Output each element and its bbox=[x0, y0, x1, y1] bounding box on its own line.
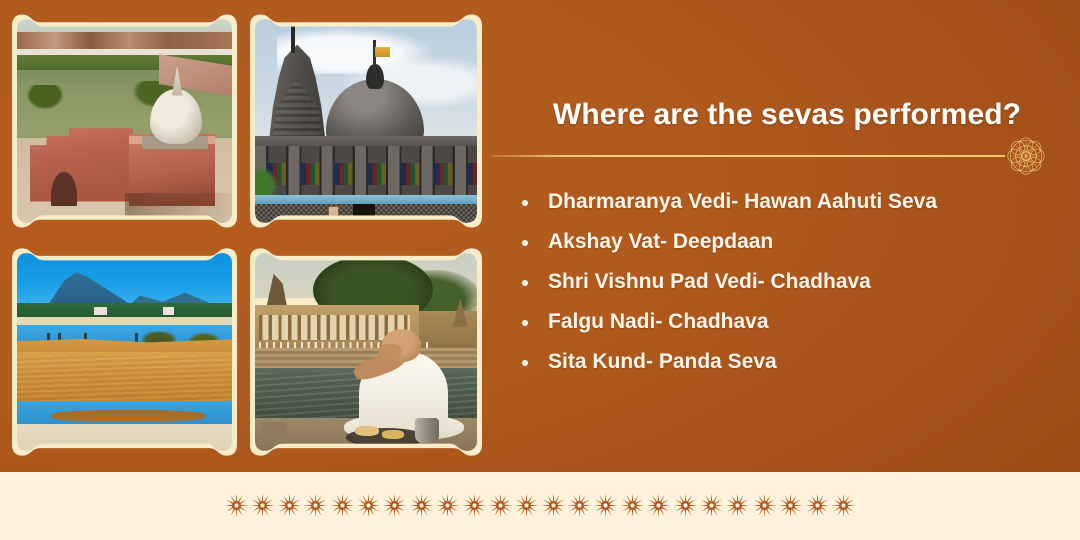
gold-divider-line bbox=[492, 155, 1005, 157]
mandala-rosette-icon bbox=[1000, 130, 1052, 182]
list-item: Akshay Vat- Deepdaan bbox=[514, 222, 1074, 262]
flower-star-icon bbox=[250, 493, 275, 518]
flower-star-icon bbox=[805, 493, 830, 518]
photo-frame-panda-seva bbox=[250, 244, 482, 460]
flower-star-icon bbox=[831, 493, 856, 518]
flower-star-icon bbox=[514, 493, 539, 518]
flower-star-icon bbox=[488, 493, 513, 518]
flower-star-icon bbox=[646, 493, 671, 518]
flower-star-icon bbox=[620, 493, 645, 518]
flower-star-icon bbox=[382, 493, 407, 518]
list-item: Dharmaranya Vedi- Hawan Aahuti Seva bbox=[514, 182, 1074, 222]
photo-frame-sita-kund bbox=[12, 10, 237, 232]
flower-star-icon bbox=[435, 493, 460, 518]
photo-sita-kund bbox=[17, 15, 232, 227]
flower-star-icon bbox=[699, 493, 724, 518]
photo-falgu-river-art bbox=[17, 249, 232, 455]
flower-star-icon bbox=[673, 493, 698, 518]
photo-frame-falgu-river bbox=[12, 244, 237, 460]
flower-star-icon bbox=[541, 493, 566, 518]
page-title: Where are the sevas performed? bbox=[522, 98, 1052, 132]
list-item: Falgu Nadi- Chadhava bbox=[514, 302, 1074, 342]
photo-frame-vishnupad-temple bbox=[250, 10, 482, 232]
flower-star-icon bbox=[567, 493, 592, 518]
photo-vishnupad-temple-art bbox=[255, 15, 477, 227]
flower-star-icon bbox=[330, 493, 355, 518]
flower-border bbox=[224, 488, 856, 522]
flower-star-icon bbox=[409, 493, 434, 518]
bottom-decorative-band bbox=[0, 472, 1080, 540]
flower-star-icon bbox=[224, 493, 249, 518]
flower-star-icon bbox=[593, 493, 618, 518]
slide-canvas: Where are the sevas performed? Dharmaran… bbox=[0, 0, 1080, 540]
flower-star-icon bbox=[752, 493, 777, 518]
list-item: Sita Kund- Panda Seva bbox=[514, 342, 1074, 382]
photo-falgu-river bbox=[17, 249, 232, 455]
flower-star-icon bbox=[356, 493, 381, 518]
photo-vishnupad-temple bbox=[255, 15, 477, 227]
flower-star-icon bbox=[462, 493, 487, 518]
list-item: Shri Vishnu Pad Vedi- Chadhava bbox=[514, 262, 1074, 302]
content-column: Where are the sevas performed? Dharmaran… bbox=[492, 0, 1080, 472]
flower-star-icon bbox=[303, 493, 328, 518]
photo-panda-seva bbox=[255, 249, 477, 455]
flower-star-icon bbox=[778, 493, 803, 518]
photo-sita-kund-art bbox=[17, 15, 232, 227]
seva-location-list: Dharmaranya Vedi- Hawan Aahuti Seva Aksh… bbox=[514, 182, 1074, 382]
flower-star-icon bbox=[725, 493, 750, 518]
flower-star-icon bbox=[277, 493, 302, 518]
photo-panda-seva-art bbox=[255, 249, 477, 455]
